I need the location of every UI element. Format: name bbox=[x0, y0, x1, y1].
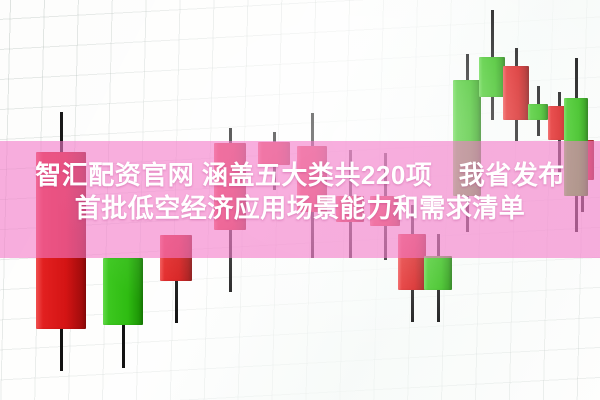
candle-body-up bbox=[528, 104, 548, 120]
candle-body-up bbox=[479, 57, 505, 97]
candle-body-up bbox=[453, 80, 481, 196]
candle-body-up bbox=[564, 98, 588, 196]
candlestick-series bbox=[0, 0, 600, 400]
candle-3 bbox=[160, 0, 192, 400]
candle-body-down bbox=[160, 235, 192, 281]
candle-7 bbox=[336, 0, 364, 400]
candle-4 bbox=[214, 0, 246, 400]
candle-12 bbox=[479, 0, 505, 400]
candle-11 bbox=[453, 0, 481, 400]
candle-body-down bbox=[214, 143, 246, 230]
candle-10 bbox=[424, 0, 452, 400]
candle-9 bbox=[398, 0, 426, 400]
candle-body-down bbox=[398, 234, 426, 290]
candle-body-down bbox=[336, 196, 364, 222]
candle-17 bbox=[564, 0, 588, 400]
candle-14 bbox=[528, 0, 548, 400]
candle-body-down bbox=[258, 142, 290, 165]
candle-body-down bbox=[36, 152, 86, 329]
candle-1 bbox=[36, 0, 86, 400]
candle-6 bbox=[297, 0, 327, 400]
candle-body-up bbox=[424, 256, 452, 290]
candle-body-down bbox=[370, 196, 400, 226]
candle-body-up bbox=[103, 258, 143, 325]
candle-2 bbox=[103, 0, 143, 400]
candle-13 bbox=[503, 0, 529, 400]
candle-5 bbox=[258, 0, 290, 400]
candle-body-down bbox=[297, 146, 327, 212]
candle-body-down bbox=[503, 66, 529, 120]
candlestick-chart-banner: 智汇配资官网 涵盖五大类共220项 我省发布 首批低空经济应用场景能力和需求清单 bbox=[0, 0, 600, 400]
candle-8 bbox=[370, 0, 400, 400]
